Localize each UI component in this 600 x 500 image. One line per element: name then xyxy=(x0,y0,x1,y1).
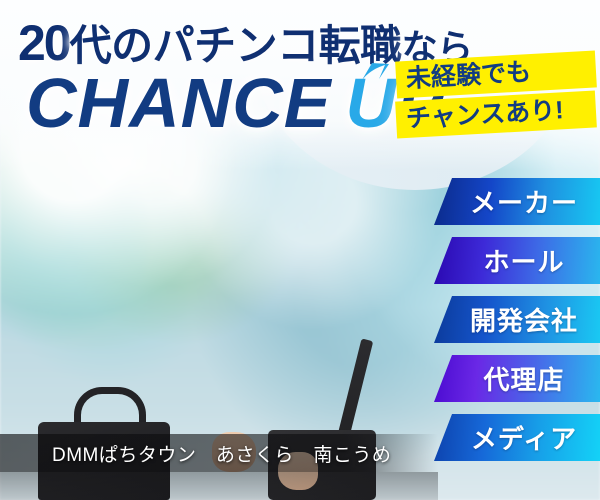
badge-line-2: チャンスあり! xyxy=(395,90,597,138)
category-item-development-company[interactable]: 開発会社 xyxy=(434,296,600,343)
logo-word-chance: CHANCE xyxy=(26,68,331,138)
logo-letter-u: U xyxy=(345,64,397,142)
category-list: メーカー ホール 開発会社 代理店 メディア xyxy=(420,178,600,461)
category-label: 開発会社 xyxy=(456,301,578,338)
category-item-maker[interactable]: メーカー xyxy=(434,178,600,225)
caption-text: DMMぱちタウン あさくら 南こうめ xyxy=(0,440,391,467)
headline-number: 20 xyxy=(18,15,70,71)
bottom-gradient xyxy=(0,472,438,500)
headline-main: 代のパチンコ転職 xyxy=(70,22,402,69)
category-label: 代理店 xyxy=(469,360,564,397)
badge-no-experience: 未経験でも チャンスあり! xyxy=(396,56,596,133)
category-label: ホール xyxy=(469,242,564,279)
chance-up-recruitment-banner[interactable]: 20代のパチンコ転職なら CHANCEUP 未経験でも チャンスあり! メーカー… xyxy=(0,0,600,500)
category-label: メーカー xyxy=(456,183,578,220)
category-item-hall[interactable]: ホール xyxy=(434,237,600,284)
logo-chance-up: CHANCEUP xyxy=(26,68,445,138)
caption-strip: DMMぱちタウン あさくら 南こうめ xyxy=(0,434,438,472)
category-label: メディア xyxy=(457,419,577,456)
category-item-media[interactable]: メディア xyxy=(434,414,600,461)
category-item-agency[interactable]: 代理店 xyxy=(434,355,600,402)
